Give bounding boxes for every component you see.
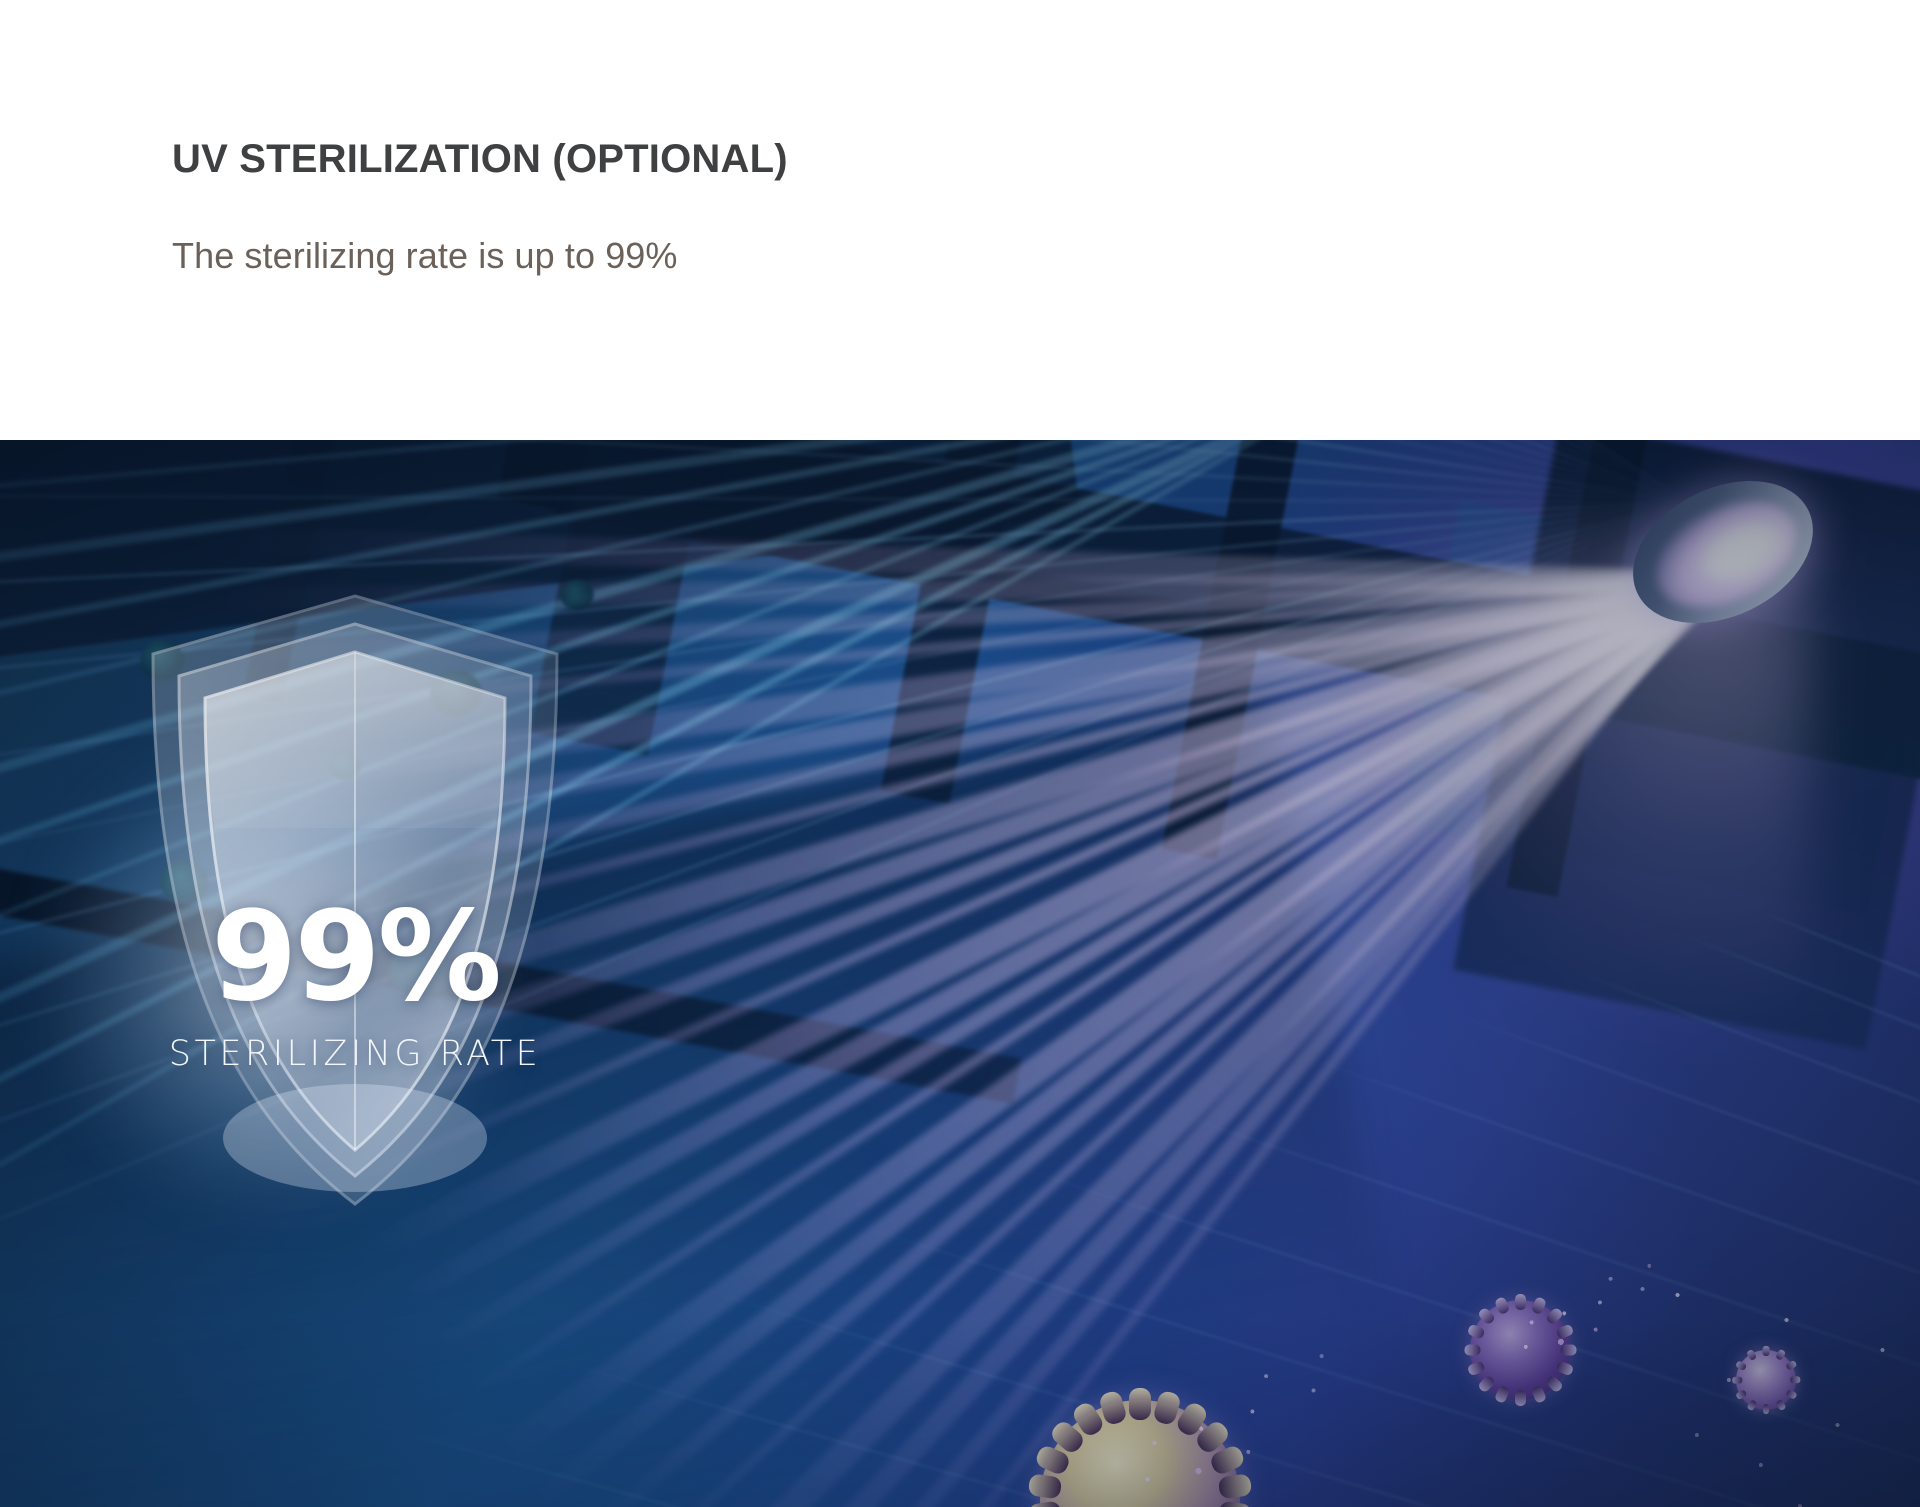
virus-spike bbox=[1790, 1377, 1800, 1384]
badge-label-group: 99% STERILIZING RATE bbox=[145, 590, 565, 1210]
grid-line-cross bbox=[1441, 1009, 1920, 1272]
virus-spike bbox=[1763, 1346, 1770, 1356]
virus-spike bbox=[1464, 1345, 1480, 1356]
virus-particle-small bbox=[1736, 1350, 1796, 1410]
page-subtitle: The sterilizing rate is up to 99% bbox=[172, 235, 678, 277]
hero-image: 99% STERILIZING RATE bbox=[0, 440, 1920, 1507]
virus-spike bbox=[1515, 1294, 1526, 1310]
virus-spike bbox=[1763, 1404, 1770, 1414]
page-title: UV STERILIZATION (OPTIONAL) bbox=[172, 137, 788, 182]
grid-line-cross bbox=[1304, 1055, 1920, 1352]
sterilizing-rate-caption: STERILIZING RATE bbox=[169, 1034, 542, 1074]
grid-line-cross bbox=[145, 1479, 1784, 1507]
virus-core bbox=[1736, 1350, 1796, 1410]
virus-spike bbox=[1129, 1388, 1151, 1420]
virus-spike bbox=[1560, 1345, 1576, 1356]
virus-spike bbox=[1515, 1390, 1526, 1406]
microbe bbox=[560, 580, 594, 610]
virus-spike bbox=[1732, 1377, 1742, 1384]
header-section: UV STERILIZATION (OPTIONAL) The steriliz… bbox=[0, 0, 1920, 440]
virus-particle-medium bbox=[1470, 1300, 1570, 1400]
grid-line-cross bbox=[1568, 967, 1920, 1191]
grid-line-cross bbox=[1759, 910, 1920, 1025]
sterilizing-rate-badge: 99% STERILIZING RATE bbox=[145, 590, 565, 1210]
sterilizing-rate-value: 99% bbox=[211, 900, 499, 1014]
grid-line-cross bbox=[675, 1280, 1920, 1507]
